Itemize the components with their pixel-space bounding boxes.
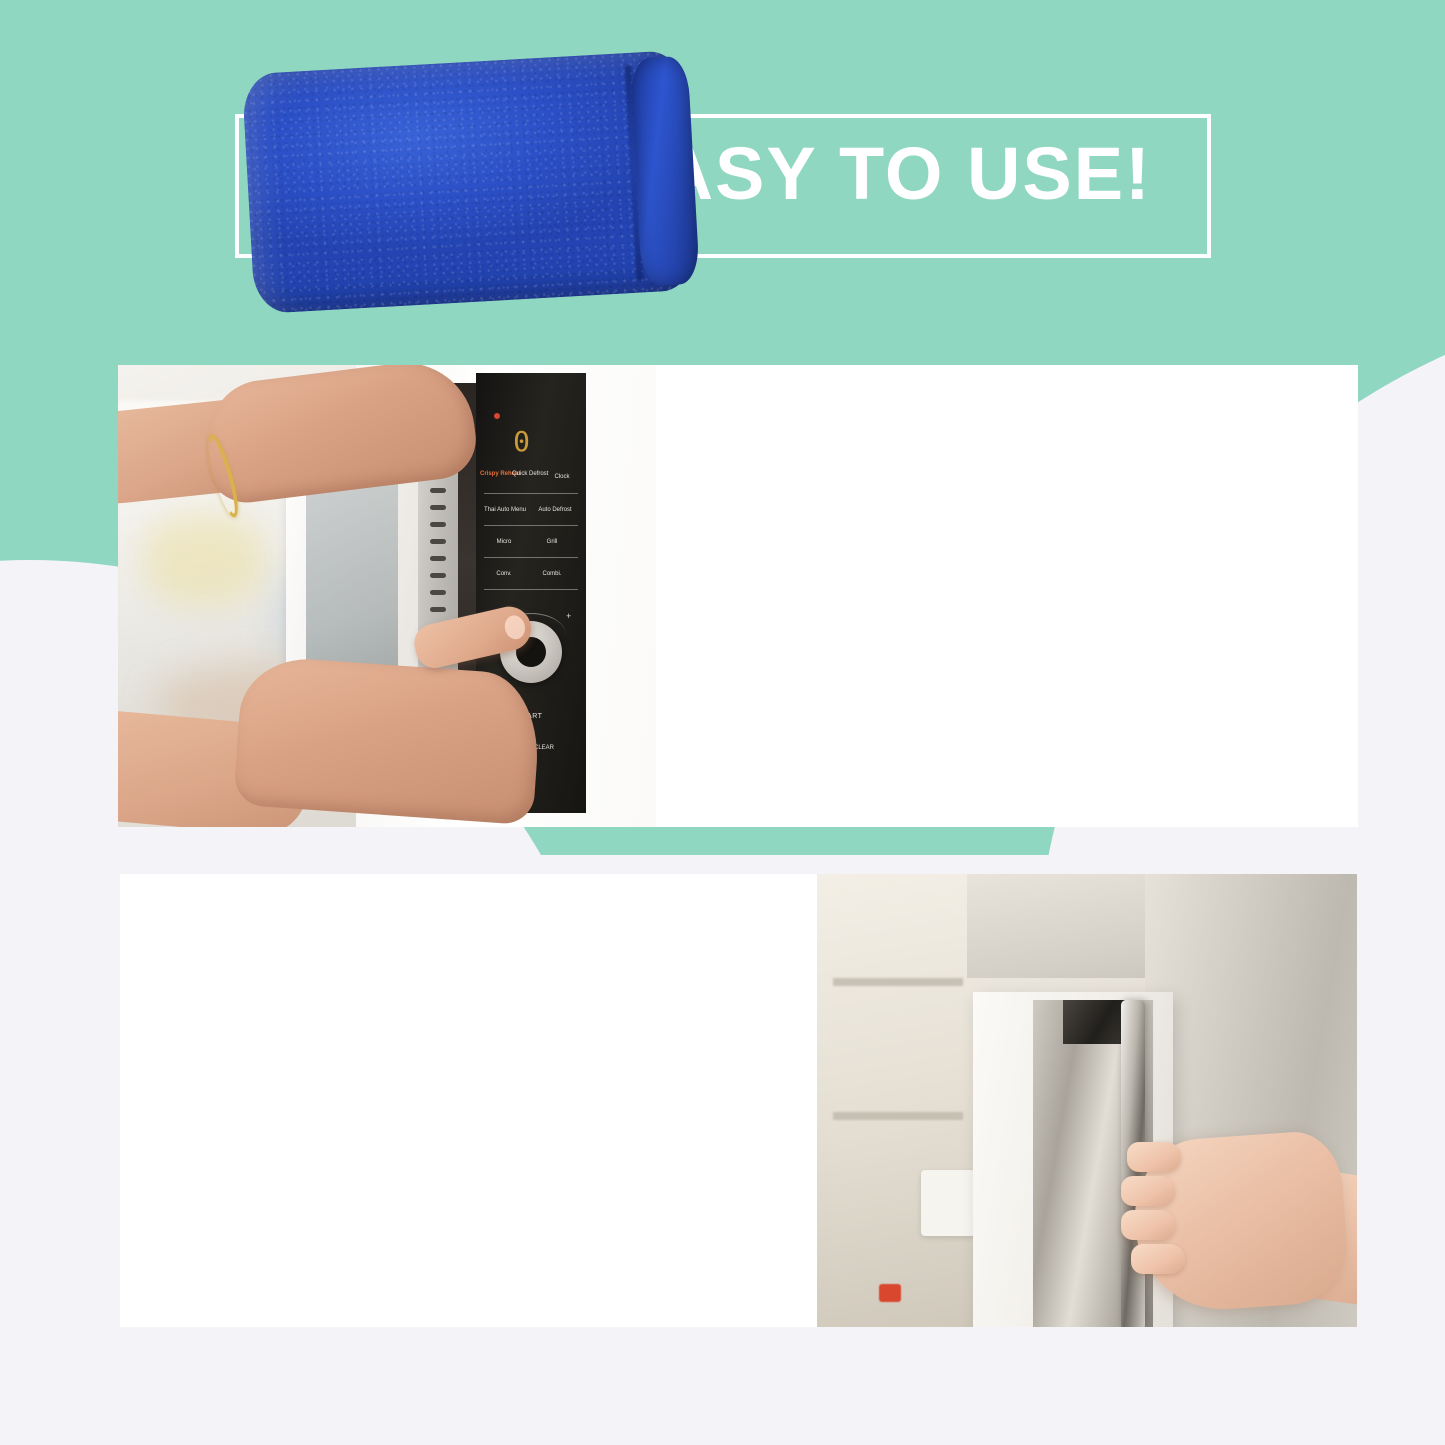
infographic-page: EASY TO USE! 0 xyxy=(0,0,1445,1445)
finger-segment xyxy=(1127,1142,1181,1172)
button-crispy-reheat[interactable]: Crispy Reheat xyxy=(480,471,514,478)
fridge-handle-bracket xyxy=(1063,1000,1125,1044)
freezer-scene xyxy=(817,874,1357,1327)
indicator-led-icon xyxy=(494,413,500,419)
vent-slot-icon xyxy=(430,607,446,612)
panel-card-freezer: CHILL IN THE FREEZER Relieve injured mus… xyxy=(120,874,1357,1327)
microwave-scene: 0 Crispy Reheat Quick Defrost Clock Thai… xyxy=(118,365,656,827)
finger-segment xyxy=(1121,1176,1175,1206)
button-micro[interactable]: Micro xyxy=(484,539,524,546)
panel-card-microwave: 0 Crispy Reheat Quick Defrost Clock Thai… xyxy=(118,365,1358,827)
background-bokeh-a xyxy=(144,515,264,605)
vent-slot-icon xyxy=(430,505,446,510)
button-combi[interactable]: Combi. xyxy=(532,571,572,578)
fridge-shelf xyxy=(833,978,963,986)
product-pack-image xyxy=(242,50,697,314)
panel-divider xyxy=(484,589,578,590)
vent-slot-icon xyxy=(430,522,446,527)
vent-slot-icon xyxy=(430,573,446,578)
microwave-display: 0 xyxy=(500,425,544,459)
vent-slot-icon xyxy=(430,488,446,493)
fridge-shelf xyxy=(833,1112,963,1120)
fridge-container xyxy=(921,1170,975,1236)
microwave-photo: 0 Crispy Reheat Quick Defrost Clock Thai… xyxy=(118,365,656,827)
button-conv[interactable]: Conv. xyxy=(484,571,524,578)
vent-slot-icon xyxy=(430,556,446,561)
vent-slot-icon xyxy=(430,539,446,544)
panel-divider xyxy=(484,557,578,558)
panel-divider xyxy=(484,525,578,526)
freezer-photo xyxy=(817,874,1357,1327)
freezer-fingers xyxy=(1121,1142,1175,1292)
vent-slot-icon xyxy=(430,590,446,595)
dial-plus-icon: + xyxy=(566,611,571,621)
finger-segment xyxy=(1131,1244,1185,1274)
hero-section: EASY TO USE! xyxy=(0,0,1445,360)
button-quick-defrost[interactable]: Quick Defrost xyxy=(512,471,546,478)
fridge-red-item xyxy=(879,1284,901,1302)
button-thai-auto-menu[interactable]: Thai Auto Menu xyxy=(478,507,532,514)
button-clock[interactable]: Clock xyxy=(546,474,578,481)
pack-fold-flap xyxy=(629,56,700,287)
lower-hand xyxy=(233,655,543,826)
panel-divider xyxy=(484,493,578,494)
fridge-interior xyxy=(817,874,985,1327)
button-auto-defrost[interactable]: Auto Defrost xyxy=(530,507,580,514)
button-grill[interactable]: Grill xyxy=(532,539,572,546)
finger-segment xyxy=(1121,1210,1175,1240)
